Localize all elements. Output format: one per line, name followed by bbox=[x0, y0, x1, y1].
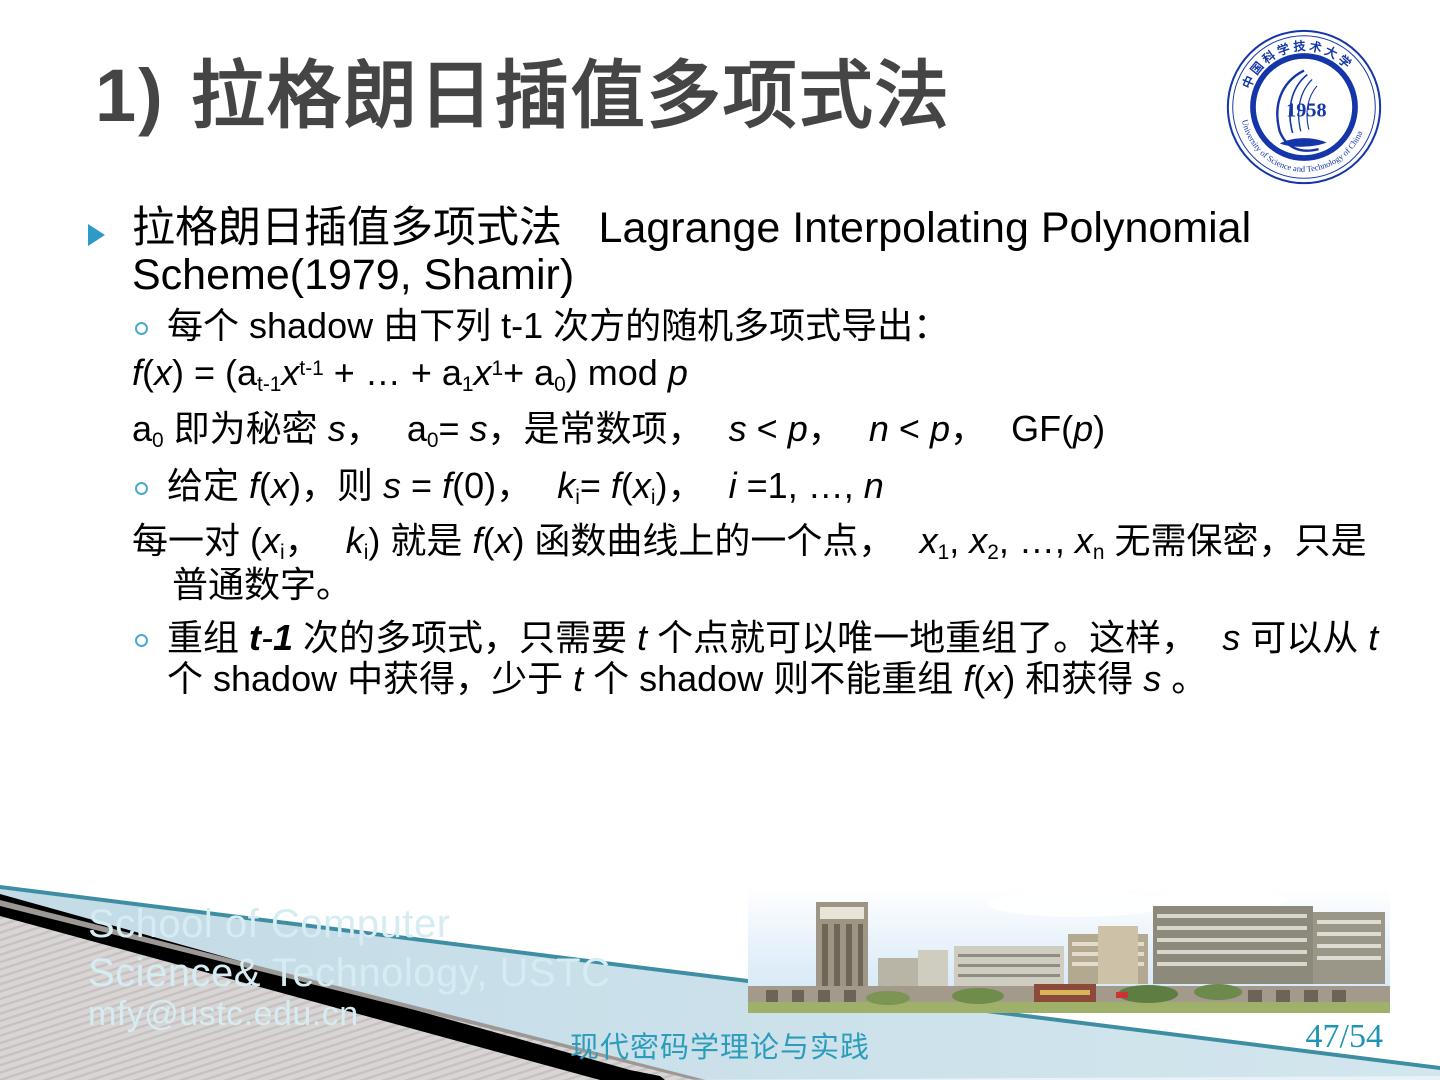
triangle-bullet-icon bbox=[88, 224, 105, 246]
svg-text:1958: 1958 bbox=[1286, 100, 1327, 122]
circle-bullet-icon bbox=[135, 322, 148, 335]
watermark-line2: Science& Technology, USTC bbox=[88, 949, 788, 998]
title-number: 1) bbox=[95, 54, 165, 137]
a0-seg1: 即为秘密 bbox=[174, 408, 318, 449]
campus-photo bbox=[748, 888, 1390, 1013]
title-text: 拉格朗日插值多项式法 bbox=[191, 54, 951, 137]
page-title: 1)拉格朗日插值多项式法 bbox=[95, 55, 951, 136]
formula-fx: f(x) = (at-1xt-1 + … + a1x1+ a0) mod p bbox=[132, 352, 1395, 397]
slide: 1)拉格朗日插值多项式法 1958 中 国 科 学 技 术 大 学 Univer… bbox=[0, 0, 1440, 1080]
sub1-text: 每个 shadow 由下列 t-1 次方的随机多项式导出： bbox=[167, 305, 949, 346]
bullet-level1: 拉格朗日插值多项式法Lagrange Interpolating Polynom… bbox=[85, 205, 1395, 299]
footer-title: 现代密码学理论与实践 bbox=[0, 1024, 1440, 1066]
bullet-level2-reconstruct: 重组 t-1 次的多项式，只需要 t 个点就可以唯一地重组了。这样， s 可以从… bbox=[132, 617, 1395, 699]
bullet1-zh: 拉格朗日插值多项式法 bbox=[132, 204, 562, 252]
watermark-text: School of Computer Science& Technology, … bbox=[88, 900, 788, 1035]
formula-a0-line: a0 即为秘密 s， a0= s，是常数项， s < p， n < p， GF(… bbox=[132, 408, 1395, 453]
circle-bullet-icon bbox=[135, 634, 148, 647]
page-number: 47/54 bbox=[1306, 1018, 1383, 1056]
watermark-line1: School of Computer bbox=[88, 900, 788, 949]
a0-seg2: 是常数项， bbox=[524, 408, 704, 449]
circle-bullet-icon bbox=[135, 482, 148, 495]
bullet-level2-given: 给定 f(x)，则 s = f(0)， ki= f(xi)， i =1, …, … bbox=[132, 465, 1395, 510]
pairs-explanation: 每一对 (xi， ki) 就是 f(x) 函数曲线上的一个点， x1, x2, … bbox=[132, 520, 1395, 606]
ustc-logo-icon: 1958 中 国 科 学 技 术 大 学 University of Scien… bbox=[1223, 26, 1385, 188]
content-body: 拉格朗日插值多项式法Lagrange Interpolating Polynom… bbox=[85, 205, 1395, 699]
bullet-level2-shadow: 每个 shadow 由下列 t-1 次方的随机多项式导出： bbox=[132, 305, 1395, 346]
